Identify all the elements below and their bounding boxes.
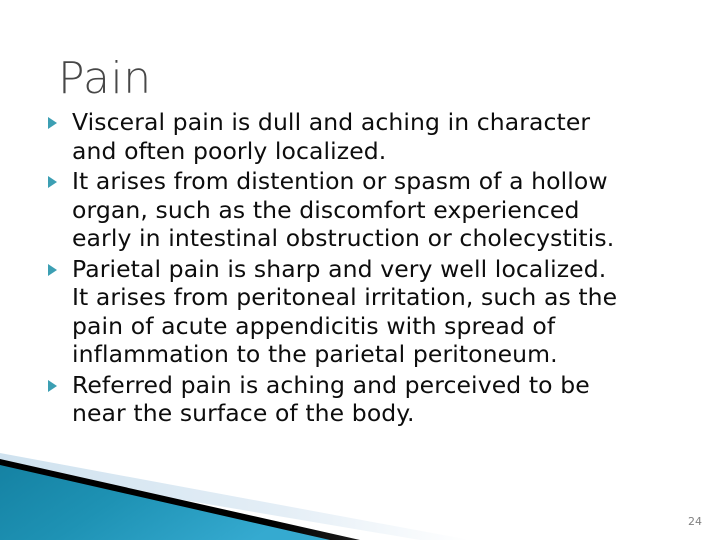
presentation-slide: Pain Visceral pain is dull and aching in…	[0, 0, 720, 540]
bullet-line: Referred pain is aching and perceived to…	[72, 371, 690, 400]
triangle-right-icon	[48, 264, 57, 276]
bullet-line: It arises from peritoneal irritation, su…	[72, 283, 690, 312]
bullet-line: inflammation to the parietal peritoneum.	[72, 340, 690, 369]
bullet-text: Parietal pain is sharp and very well loc…	[72, 255, 690, 369]
page-title: Pain	[58, 57, 152, 101]
bullet-line: near the surface of the body.	[72, 399, 690, 428]
list-item: It arises from distention or spasm of a …	[42, 167, 690, 253]
bullet-line: pain of acute appendicitis with spread o…	[72, 312, 690, 341]
bullet-text: It arises from distention or spasm of a …	[72, 167, 690, 253]
list-item: Referred pain is aching and perceived to…	[42, 371, 690, 428]
bullet-line: Parietal pain is sharp and very well loc…	[72, 255, 690, 284]
triangle-right-icon	[48, 117, 57, 129]
pale-blue-band-shape	[0, 453, 470, 540]
teal-triangle-shape	[0, 465, 330, 540]
page-number: 24	[688, 515, 702, 528]
triangle-right-icon	[48, 380, 57, 392]
list-item: Visceral pain is dull and aching in char…	[42, 108, 690, 165]
black-stripe-shape	[0, 459, 360, 540]
slide-body: Visceral pain is dull and aching in char…	[42, 108, 690, 430]
bullet-line: and often poorly localized.	[72, 137, 690, 166]
triangle-right-icon	[48, 176, 57, 188]
bullet-line: early in intestinal obstruction or chole…	[72, 224, 690, 253]
bullet-line: Visceral pain is dull and aching in char…	[72, 108, 690, 137]
bullet-line: It arises from distention or spasm of a …	[72, 167, 690, 196]
bullet-text: Visceral pain is dull and aching in char…	[72, 108, 690, 165]
list-item: Parietal pain is sharp and very well loc…	[42, 255, 690, 369]
corner-decoration-graphic	[0, 445, 520, 540]
bullet-text: Referred pain is aching and perceived to…	[72, 371, 690, 428]
bullet-line: organ, such as the discomfort experience…	[72, 196, 690, 225]
